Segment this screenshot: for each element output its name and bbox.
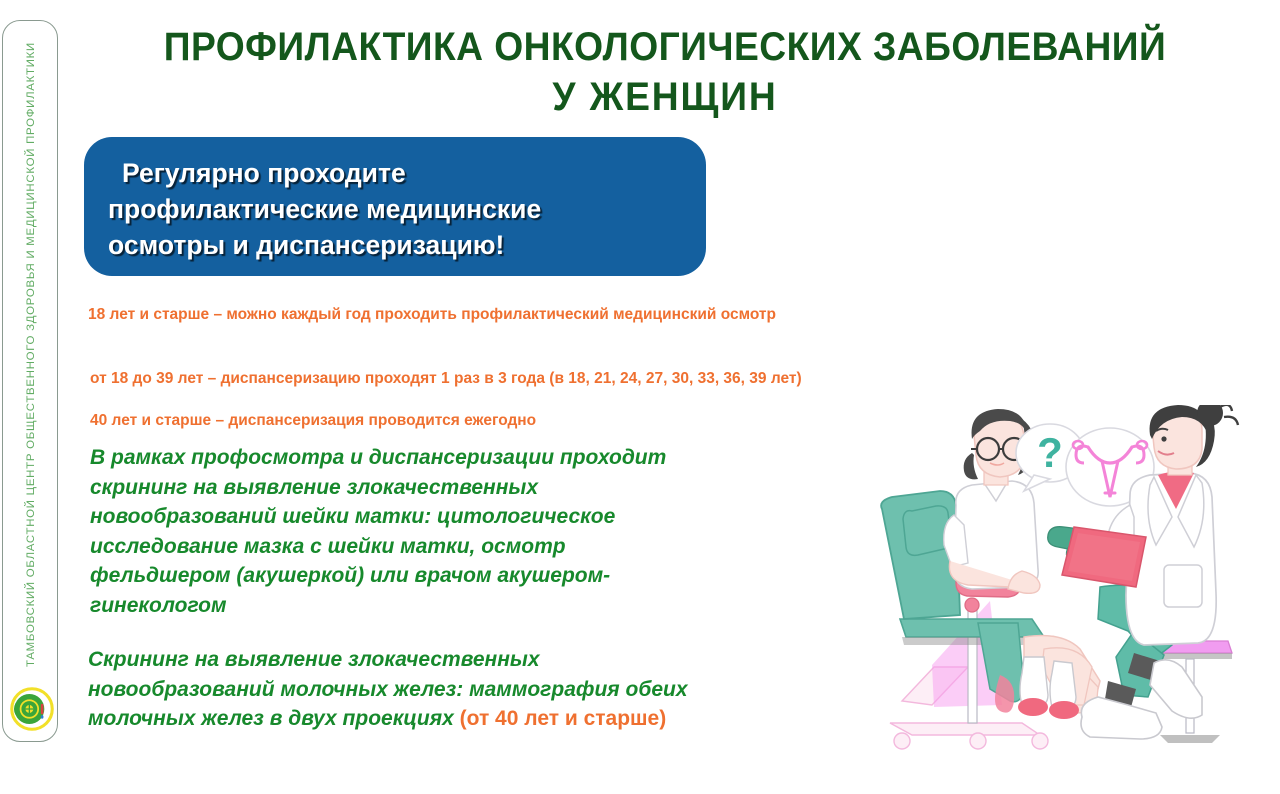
brand-vertical-text: ТАМБОВСКИЙ ОБЛАСТНОЙ ЦЕНТР ОБЩЕСТВЕННОГО… [25,67,37,667]
age-rule-18-39: от 18 до 39 лет – диспансеризацию проход… [90,367,970,390]
slide-root: ТАМБОВСКИЙ ОБЛАСТНОЙ ЦЕНТР ОБЩЕСТВЕННОГО… [0,0,1280,794]
callout-line-2: профилактические медицинские [108,191,688,227]
gynecologist-consultation-illustration: ? [872,405,1280,794]
brand-vertical-text-wrap: ТАМБОВСКИЙ ОБЛАСТНОЙ ЦЕНТР ОБЩЕСТВЕННОГО… [3,71,59,671]
cervix-screening-paragraph: В рамках профосмотра и диспансеризации п… [90,443,710,620]
page-title-line-1: ПРОФИЛАКТИКА ОНКОЛОГИЧЕСКИХ ЗАБОЛЕВАНИЙ [164,25,1166,69]
age-rule-18-plus: 18 лет и старше – можно каждый год прохо… [88,303,788,326]
callout-line-3: осмотры и диспансеризацию! [108,227,688,263]
breast-screening-age-note: (от 40 лет и старше) [460,707,667,730]
center-emblem-logo [10,687,54,731]
callout-line-1: Регулярно проходите [108,155,688,191]
breast-screening-paragraph: Скрининг на выявление злокачественных но… [88,645,708,734]
brand-panel: ТАМБОВСКИЙ ОБЛАСТНОЙ ЦЕНТР ОБЩЕСТВЕННОГО… [2,20,58,742]
age-rule-40-plus: 40 лет и старше – диспансеризация провод… [90,409,890,432]
page-title-line-2: У ЖЕНЩИН [112,72,1219,122]
callout-banner-text: Регулярно проходите профилактические мед… [108,155,688,263]
speech-bubble-question-mark: ? [1037,429,1063,476]
page-title: ПРОФИЛАКТИКА ОНКОЛОГИЧЕСКИХ ЗАБОЛЕВАНИЙ … [112,22,1219,122]
callout-banner: Регулярно проходите профилактические мед… [84,137,706,276]
